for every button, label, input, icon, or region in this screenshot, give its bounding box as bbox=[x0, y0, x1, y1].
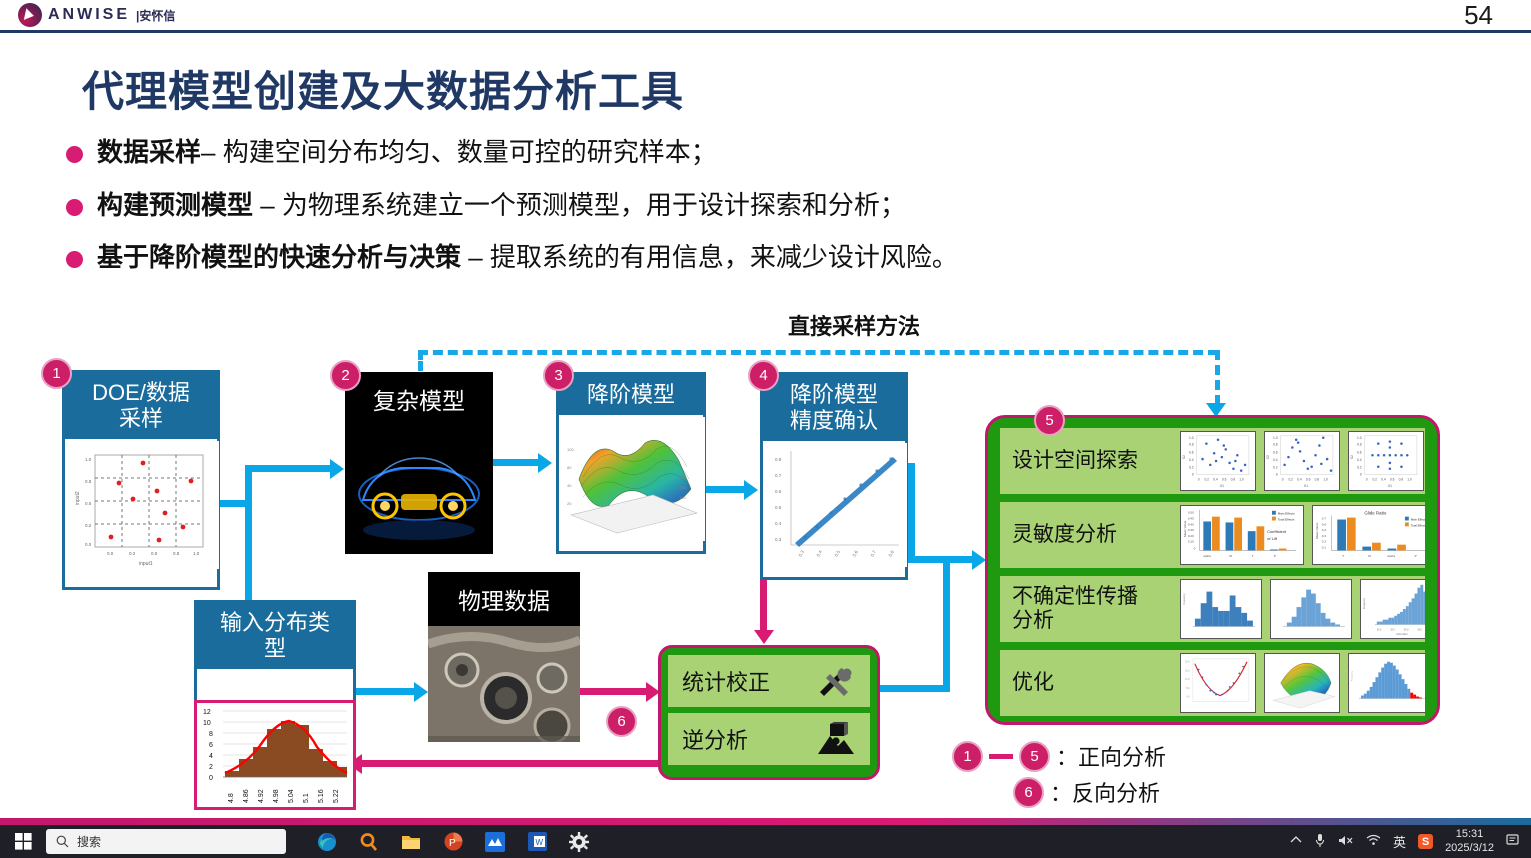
svg-text:0.20: 0.20 bbox=[1188, 534, 1194, 538]
analysis-row-uncertainty[interactable]: 不确定性传播 分析 Frequency bbox=[1000, 576, 1425, 642]
svg-text:34.0: 34.0 bbox=[1404, 629, 1409, 631]
svg-text:20.0: 20.0 bbox=[1185, 662, 1190, 664]
svg-text:5.1: 5.1 bbox=[303, 793, 310, 803]
svg-text:0.4: 0.4 bbox=[1357, 458, 1362, 462]
doe-scatter-chart-icon: input2 input1 0.00.20.5 0.81.0 1.00.80.5… bbox=[67, 441, 219, 569]
file-explorer-icon[interactable] bbox=[400, 831, 422, 853]
connector-physical-to-calib bbox=[580, 688, 652, 695]
svg-text:4.98: 4.98 bbox=[273, 789, 280, 803]
svg-text:0: 0 bbox=[209, 775, 213, 782]
svg-text:0.0: 0.0 bbox=[107, 551, 114, 556]
bullet-dot-icon bbox=[66, 146, 83, 163]
analysis-row-optimization[interactable]: 优化 20.016.012.0 bbox=[1000, 650, 1425, 716]
arrow-4-to-5 bbox=[972, 550, 986, 570]
svg-text:W: W bbox=[535, 838, 543, 847]
badge-2: 2 bbox=[330, 360, 361, 391]
svg-text:0.4: 0.4 bbox=[1381, 477, 1386, 481]
svg-text:0.5: 0.5 bbox=[775, 505, 782, 510]
badge-4: 4 bbox=[748, 360, 779, 391]
car-wireframe-icon bbox=[345, 426, 493, 552]
ime-indicator[interactable]: 英 bbox=[1393, 832, 1406, 851]
svg-text:0.6: 0.6 bbox=[1222, 477, 1227, 481]
svg-text:Frequency: Frequency bbox=[1351, 670, 1353, 681]
svg-text:input1: input1 bbox=[139, 561, 153, 567]
node-analysis-suite: 设计空间探索 1.00.80.6 bbox=[985, 415, 1440, 725]
node-doe-sampling-chart: input2 input1 0.00.20.5 0.81.0 1.00.80.5… bbox=[65, 439, 217, 571]
calibration-statistical-label: 统计校正 bbox=[682, 665, 770, 697]
node-physical-data[interactable]: 物理数据 bbox=[428, 572, 580, 742]
list-item: 构建预测模型 – 为物理系统建立一个预测模型，用于设计探索和分析； bbox=[66, 189, 1466, 222]
legend-reverse: 6 ：反向分析 bbox=[1013, 776, 1166, 808]
word-icon[interactable]: W bbox=[526, 831, 548, 853]
bullet-rest: – 构建空间分布均匀、数量可控的研究样本； bbox=[201, 137, 717, 167]
svg-text:Total Effects: Total Effects bbox=[1278, 518, 1295, 522]
svg-text:1.0: 1.0 bbox=[85, 457, 92, 462]
slide-header: ANWISE |安怀信 54 bbox=[0, 0, 1531, 30]
volume-mute-icon[interactable] bbox=[1338, 834, 1354, 850]
bullet-dot-icon bbox=[66, 251, 83, 268]
svg-text:T: T bbox=[1342, 554, 1344, 558]
wrench-icon bbox=[814, 664, 856, 698]
analysis-row-label: 不确定性传播 分析 bbox=[1000, 585, 1180, 633]
node-rom-accuracy-chart: 0.80.70.6 0.50.40.3 0.3 0.4 0.5 0.6 0.7 … bbox=[763, 441, 905, 569]
svg-text:0.2: 0.2 bbox=[85, 523, 92, 528]
svg-text:0.50: 0.50 bbox=[1188, 511, 1194, 515]
svg-text:X1: X1 bbox=[1388, 484, 1392, 488]
clock-time: 15:31 bbox=[1445, 828, 1494, 842]
microphone-icon[interactable] bbox=[1314, 833, 1326, 851]
svg-text:0.8: 0.8 bbox=[85, 479, 92, 484]
svg-text:Frequency: Frequency bbox=[1183, 593, 1186, 606]
workflow-diagram: 直接采样方法 1 DOE/数据 采样 bbox=[0, 300, 1531, 825]
analysis-row-label: 优化 bbox=[1000, 671, 1180, 695]
anwise-logo: ANWISE |安怀信 bbox=[18, 3, 175, 27]
svg-text:0.40: 0.40 bbox=[1188, 522, 1194, 526]
svg-text:Main Effects: Main Effects bbox=[1278, 512, 1295, 516]
svg-text:0.10: 0.10 bbox=[1188, 540, 1194, 544]
svg-text:0: 0 bbox=[1198, 477, 1200, 481]
calibration-inverse-label: 逆分析 bbox=[682, 723, 748, 755]
svg-text:input2: input2 bbox=[75, 491, 81, 505]
svg-text:0.4: 0.4 bbox=[1273, 458, 1278, 462]
dashed-connector-right bbox=[1215, 350, 1220, 405]
svg-text:0.6: 0.6 bbox=[775, 489, 782, 494]
analysis-row-charts: Frequency bbox=[1180, 576, 1425, 642]
line-chart-convergence-icon: 20.016.012.0 8.04.0 bbox=[1180, 653, 1256, 713]
svg-text:X1: X1 bbox=[1304, 484, 1308, 488]
legend-forward-label: ：正向分析 bbox=[1056, 740, 1166, 772]
calibration-inverse[interactable]: 逆分析 bbox=[668, 713, 870, 765]
svg-text:12: 12 bbox=[203, 709, 211, 716]
svg-text:100: 100 bbox=[567, 447, 574, 452]
svg-text:P: P bbox=[1415, 554, 1417, 558]
svg-text:0: 0 bbox=[1192, 473, 1194, 477]
node-rom-chart: 100804020 200150100 bbox=[559, 415, 703, 543]
svg-text:0.6: 0.6 bbox=[1189, 450, 1194, 454]
clock[interactable]: 15:31 2025/3/12 bbox=[1445, 828, 1494, 856]
start-button[interactable] bbox=[0, 833, 46, 850]
scatter-chart-random-icon: 1.00.80.6 0.40.20 X2 00.20.4 0.60.81.0 X… bbox=[1180, 431, 1256, 491]
svg-text:0.2: 0.2 bbox=[1357, 466, 1362, 470]
bullet-rest: – 提取系统的有用信息，来减少设计风险。 bbox=[461, 242, 958, 272]
arrow-3-to-4 bbox=[744, 480, 758, 500]
node-rom-accuracy-title: 降阶模型 精度确认 bbox=[763, 375, 905, 441]
svg-text:0.8: 0.8 bbox=[1357, 443, 1362, 447]
svg-text:1.0: 1.0 bbox=[1407, 477, 1412, 481]
bullet-bold: 基于降阶模型的快速分析与决策 bbox=[97, 242, 461, 272]
page-number: 54 bbox=[1464, 0, 1493, 31]
svg-text:0.4: 0.4 bbox=[775, 521, 782, 526]
node-doe-sampling[interactable]: DOE/数据 采样 bbox=[62, 370, 220, 590]
svg-text:alpha: alpha bbox=[1203, 554, 1211, 558]
svg-text:5.22: 5.22 bbox=[333, 789, 340, 803]
svg-text:Mean Value: Mean Value bbox=[1183, 520, 1187, 536]
svg-text:0.1: 0.1 bbox=[1322, 546, 1327, 550]
slide-accent-strip bbox=[0, 818, 1531, 825]
bullet-dot-icon bbox=[66, 199, 83, 216]
svg-text:0.6: 0.6 bbox=[1273, 450, 1278, 454]
svg-text:4.86: 4.86 bbox=[243, 789, 250, 803]
svg-text:0.30: 0.30 bbox=[1188, 528, 1194, 532]
svg-text:0.5: 0.5 bbox=[151, 551, 158, 556]
analysis-row-charts: 1.00.80.6 0.40.20 X2 00.20.4 0.60.81.0 X… bbox=[1180, 428, 1424, 494]
edge-icon[interactable] bbox=[316, 831, 338, 853]
search-icon bbox=[56, 835, 69, 848]
bullet-list: 数据采样– 构建空间分布均匀、数量可控的研究样本； 构建预测模型 – 为物理系统… bbox=[66, 136, 1466, 294]
svg-text:0.8: 0.8 bbox=[1231, 477, 1236, 481]
analysis-row-label: 设计空间探索 bbox=[1000, 449, 1180, 473]
svg-text:0.8: 0.8 bbox=[173, 551, 180, 556]
svg-text:0.2: 0.2 bbox=[129, 551, 136, 556]
svg-text:4.92: 4.92 bbox=[258, 789, 265, 803]
svg-text:4.8: 4.8 bbox=[228, 793, 235, 803]
correlation-scatter-icon: 0.80.70.6 0.50.40.3 0.3 0.4 0.5 0.6 0.7 … bbox=[765, 443, 907, 567]
svg-text:30.0: 30.0 bbox=[1377, 629, 1382, 631]
svg-text:0: 0 bbox=[1194, 547, 1196, 551]
svg-text:1.0: 1.0 bbox=[1357, 436, 1362, 440]
svg-text:0.0: 0.0 bbox=[85, 542, 92, 547]
node-doe-sampling-title: DOE/数据 采样 bbox=[65, 373, 217, 439]
svg-text:0.7: 0.7 bbox=[775, 473, 782, 478]
search-input[interactable]: 搜索 bbox=[46, 829, 286, 854]
logo-text: ANWISE bbox=[48, 6, 130, 24]
legend-reverse-label: ：反向分析 bbox=[1050, 776, 1160, 808]
svg-text:12.0: 12.0 bbox=[1185, 679, 1190, 681]
svg-text:5.16: 5.16 bbox=[318, 789, 325, 803]
surface-3d-chart-icon: 100804020 200150100 bbox=[561, 417, 705, 541]
svg-text:0.6: 0.6 bbox=[1322, 522, 1327, 526]
svg-text:8: 8 bbox=[209, 731, 213, 738]
search-placeholder: 搜索 bbox=[77, 833, 101, 850]
svg-text:80: 80 bbox=[567, 465, 572, 470]
svg-text:100: 100 bbox=[679, 495, 686, 500]
svg-text:0.2: 0.2 bbox=[1189, 466, 1194, 470]
connector-calib-to-5a bbox=[880, 685, 950, 692]
legend-badge-6: 6 bbox=[1013, 777, 1044, 808]
svg-text:32.0: 32.0 bbox=[1390, 629, 1395, 631]
connector-1-to-inputdist bbox=[245, 500, 252, 600]
svg-text:4: 4 bbox=[209, 753, 213, 760]
engine-photo-icon bbox=[428, 626, 580, 742]
svg-text:10: 10 bbox=[203, 720, 211, 727]
mountain-icon bbox=[814, 722, 856, 756]
chart-app-icon[interactable] bbox=[484, 831, 506, 853]
svg-text:0.7: 0.7 bbox=[1322, 517, 1327, 521]
svg-text:Frequency: Frequency bbox=[1364, 597, 1366, 609]
svg-text:200: 200 bbox=[679, 475, 686, 480]
svg-text:alpha: alpha bbox=[1388, 554, 1396, 558]
svg-text:16.0: 16.0 bbox=[1185, 670, 1190, 672]
svg-text:0.45: 0.45 bbox=[1188, 517, 1194, 521]
svg-text:T: T bbox=[1252, 554, 1254, 558]
svg-text:0.6: 0.6 bbox=[1357, 450, 1362, 454]
node-input-distribution-title: 输入分布类 型 bbox=[197, 603, 353, 669]
svg-text:X2: X2 bbox=[1266, 455, 1270, 459]
settings-gear-icon[interactable] bbox=[568, 831, 590, 853]
svg-text:2: 2 bbox=[209, 764, 213, 771]
svg-text:0.2: 0.2 bbox=[1372, 477, 1377, 481]
node-physical-data-title: 物理数据 bbox=[428, 572, 580, 626]
node-reduced-order-model-title: 降阶模型 bbox=[559, 375, 703, 415]
svg-text:X2: X2 bbox=[1182, 455, 1186, 459]
svg-text:M: M bbox=[1368, 554, 1371, 558]
histogram-1-icon: Frequency bbox=[1180, 579, 1262, 639]
taskbar-app-icons: P W bbox=[316, 831, 590, 853]
calibration-panel: 统计校正 逆分析 bbox=[658, 645, 880, 780]
svg-text:0: 0 bbox=[1282, 477, 1284, 481]
arrow-4-to-calib bbox=[754, 630, 774, 644]
connector-calib-to-5b bbox=[943, 560, 950, 692]
windows-icon bbox=[15, 833, 32, 850]
calibration-statistical[interactable]: 统计校正 bbox=[668, 655, 870, 707]
anwise-logo-icon bbox=[18, 3, 42, 27]
surface-3d-optimization-icon bbox=[1264, 653, 1340, 713]
svg-text:20: 20 bbox=[567, 501, 572, 506]
svg-text:X1: X1 bbox=[1220, 484, 1224, 488]
legend-badge-5: 5 bbox=[1019, 741, 1050, 772]
connector-1-to-2c bbox=[245, 465, 335, 472]
svg-text:P: P bbox=[1274, 554, 1276, 558]
slide-canvas: ANWISE |安怀信 54 代理模型创建及大数据分析工具 数据采样– 构建空间… bbox=[0, 0, 1531, 825]
legend-forward: 1 5 ：正向分析 bbox=[952, 740, 1166, 772]
svg-text:0.4: 0.4 bbox=[1297, 477, 1302, 481]
analysis-row-design-exploration[interactable]: 设计空间探索 1.00.80.6 bbox=[1000, 428, 1425, 494]
svg-text:0: 0 bbox=[1366, 477, 1368, 481]
node-rom-accuracy[interactable]: 降阶模型 精度确认 bbox=[760, 372, 908, 580]
bullet-bold: 构建预测模型 bbox=[97, 190, 253, 220]
windows-taskbar: 搜索 P bbox=[0, 825, 1531, 858]
arrow-2-to-3 bbox=[538, 453, 552, 473]
svg-text:0.8: 0.8 bbox=[1399, 477, 1404, 481]
logo-text-cn: |安怀信 bbox=[136, 7, 175, 24]
svg-text:Total Effects: Total Effects bbox=[1411, 523, 1425, 527]
legend-dash-icon bbox=[989, 754, 1013, 759]
svg-text:0.6: 0.6 bbox=[1390, 477, 1395, 481]
svg-text:40: 40 bbox=[567, 483, 572, 488]
sogou-icon[interactable]: S bbox=[1418, 834, 1433, 849]
svg-text:of Lift: of Lift bbox=[1267, 536, 1278, 541]
badge-5: 5 bbox=[1034, 405, 1065, 436]
analysis-row-charts: 0.500.450.40 0.300.200.100 Mean Value al… bbox=[1180, 502, 1425, 568]
chevron-up-icon[interactable] bbox=[1290, 835, 1302, 848]
svg-text:1.0: 1.0 bbox=[1189, 436, 1194, 440]
svg-text:0.3: 0.3 bbox=[775, 537, 782, 542]
svg-text:1.0: 1.0 bbox=[193, 551, 200, 556]
notification-icon[interactable] bbox=[1506, 833, 1521, 850]
connector-4-to-5vert bbox=[908, 463, 915, 563]
svg-text:0.8: 0.8 bbox=[1273, 443, 1278, 447]
svg-text:0.2: 0.2 bbox=[1204, 477, 1209, 481]
arrow-inputdist-to-physical bbox=[414, 682, 428, 702]
badge-1: 1 bbox=[41, 358, 72, 389]
svg-text:1.0: 1.0 bbox=[1323, 477, 1328, 481]
arrow-1-to-2 bbox=[330, 459, 344, 479]
svg-text:Mean Value: Mean Value bbox=[1315, 522, 1319, 538]
histogram-optimization-icon: Frequency bbox=[1348, 653, 1425, 713]
legend: 1 5 ：正向分析 6 ：反向分析 bbox=[952, 740, 1166, 812]
svg-text:1.0: 1.0 bbox=[1239, 477, 1244, 481]
svg-text:0.4: 0.4 bbox=[1213, 477, 1218, 481]
svg-text:Glide Ratio: Glide Ratio bbox=[1396, 633, 1408, 636]
connector-inputdist-to-physical bbox=[356, 688, 418, 695]
svg-text:0.6: 0.6 bbox=[1306, 477, 1311, 481]
bar-chart-coefficient-of-lift-icon: 0.500.450.40 0.300.200.100 Mean Value al… bbox=[1180, 505, 1304, 565]
scatter-chart-lhs-icon: 1.00.80.6 0.40.20 X2 00.20.4 0.60.81.0 X… bbox=[1264, 431, 1340, 491]
svg-text:P: P bbox=[449, 838, 456, 849]
svg-text:0.2: 0.2 bbox=[1288, 477, 1293, 481]
histogram-2-icon bbox=[1270, 579, 1352, 639]
search-circle-icon[interactable] bbox=[358, 831, 380, 853]
svg-text:5.04: 5.04 bbox=[288, 789, 295, 803]
node-complex-model-title: 复杂模型 bbox=[345, 372, 493, 426]
page-title: 代理模型创建及大数据分析工具 bbox=[82, 58, 684, 119]
svg-text:0: 0 bbox=[1276, 473, 1278, 477]
svg-text:0.4: 0.4 bbox=[1189, 458, 1194, 462]
connector-inverse-to-inputdist bbox=[360, 760, 660, 767]
svg-text:X2: X2 bbox=[1350, 455, 1354, 459]
badge-6: 6 bbox=[606, 706, 637, 737]
bar-chart-glide-ratio-icon: Glide Ratio 0.70.60.4 0.30.20.1 Mean Val… bbox=[1312, 505, 1425, 565]
svg-text:0.2: 0.2 bbox=[1322, 540, 1327, 544]
svg-text:0: 0 bbox=[1360, 473, 1362, 477]
svg-text:0.5: 0.5 bbox=[85, 501, 92, 506]
bullet-rest: – 为物理系统建立一个预测模型，用于设计探索和分析； bbox=[253, 190, 906, 220]
badge-3: 3 bbox=[543, 360, 574, 391]
input-distribution-histogram: 12108 6420 4.8 4.86 4.92 4.98 5.04 5.1 5… bbox=[194, 700, 356, 810]
clock-date: 2025/3/12 bbox=[1445, 842, 1494, 856]
svg-text:0.8: 0.8 bbox=[1189, 443, 1194, 447]
list-item: 基于降阶模型的快速分析与决策 – 提取系统的有用信息，来减少设计风险。 bbox=[66, 241, 1466, 274]
svg-text:0.4: 0.4 bbox=[1322, 528, 1327, 532]
wifi-icon[interactable] bbox=[1366, 834, 1381, 849]
svg-text:0.2: 0.2 bbox=[1273, 466, 1278, 470]
node-reduced-order-model[interactable]: 降阶模型 bbox=[556, 372, 706, 554]
node-complex-model[interactable]: 复杂模型 bbox=[345, 372, 493, 554]
svg-text:1.0: 1.0 bbox=[1273, 436, 1278, 440]
analysis-row-label: 灵敏度分析 bbox=[1000, 523, 1180, 547]
svg-text:6: 6 bbox=[209, 742, 213, 749]
connector-3-to-4 bbox=[706, 486, 748, 493]
svg-text:Coefficient: Coefficient bbox=[1267, 529, 1287, 534]
svg-text:150: 150 bbox=[679, 485, 686, 490]
histogram-glide-ratio-icon: Frequency Glide Ratio 30.032.034.036.0 bbox=[1360, 579, 1425, 639]
header-divider bbox=[0, 30, 1531, 33]
histogram-normalfit-icon: 12108 6420 4.8 4.86 4.92 4.98 5.04 5.1 5… bbox=[197, 703, 353, 807]
list-item: 数据采样– 构建空间分布均匀、数量可控的研究样本； bbox=[66, 136, 1466, 169]
analysis-row-sensitivity[interactable]: 灵敏度分析 0.500.450.40 0.300.200.100 M bbox=[1000, 502, 1425, 568]
powerpoint-icon[interactable]: P bbox=[442, 831, 464, 853]
scatter-chart-grid-icon: 1.00.80.6 0.40.20 X2 00.20.4 0.60.81.0 X… bbox=[1348, 431, 1424, 491]
direct-sampling-label: 直接采样方法 bbox=[788, 309, 920, 341]
svg-text:0.8: 0.8 bbox=[1315, 477, 1320, 481]
legend-badge-1: 1 bbox=[952, 741, 983, 772]
svg-text:0.3: 0.3 bbox=[1322, 534, 1327, 538]
system-tray: 英 S 15:31 2025/3/12 bbox=[1290, 828, 1521, 856]
svg-text:36.0: 36.0 bbox=[1417, 629, 1422, 631]
svg-text:M: M bbox=[1229, 554, 1232, 558]
svg-text:0.8: 0.8 bbox=[775, 457, 782, 462]
dashed-connector-top bbox=[418, 350, 1218, 355]
analysis-row-charts: 20.016.012.0 8.04.0 bbox=[1180, 650, 1425, 716]
svg-text:Main Effects: Main Effects bbox=[1411, 518, 1425, 522]
connector-2-to-3 bbox=[493, 459, 541, 466]
bullet-bold: 数据采样 bbox=[97, 137, 201, 167]
svg-text:Glide Ratio: Glide Ratio bbox=[1364, 511, 1386, 516]
